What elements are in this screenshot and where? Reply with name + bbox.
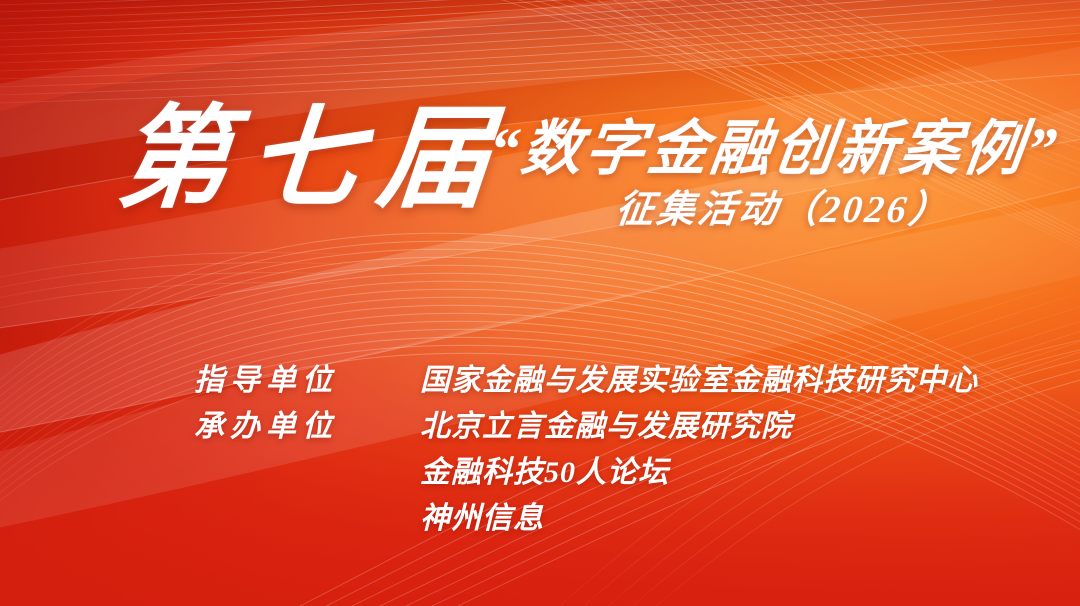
poster-title-main: 第七届 <box>113 104 513 216</box>
poster-canvas: 第七届 “数字金融创新案例” 征集活动（2026） 指导单位 承办单位 国家金融… <box>0 0 1080 606</box>
credit-label-column: 指导单位 承办单位 <box>194 358 420 542</box>
credits-block: 指导单位 承办单位 国家金融与发展实验室金融科技研究中心 北京立言金融与发展研究… <box>194 358 978 542</box>
credit-value-organizer-2: 神州信息 <box>420 496 978 542</box>
poster-title-subtitle: 征集活动（2026） <box>614 191 953 229</box>
credit-value-organizer-1: 金融科技50人论坛 <box>420 450 978 496</box>
credit-value-guidance-0: 国家金融与发展实验室金融科技研究中心 <box>420 358 978 404</box>
credit-value-organizer-0: 北京立言金融与发展研究院 <box>420 404 978 450</box>
poster-title-quoted: “数字金融创新案例” <box>485 119 1062 179</box>
credit-label-guidance: 指导单位 <box>194 358 420 404</box>
credit-value-column: 国家金融与发展实验室金融科技研究中心 北京立言金融与发展研究院 金融科技50人论… <box>420 358 978 542</box>
credit-label-organizer: 承办单位 <box>194 404 420 450</box>
